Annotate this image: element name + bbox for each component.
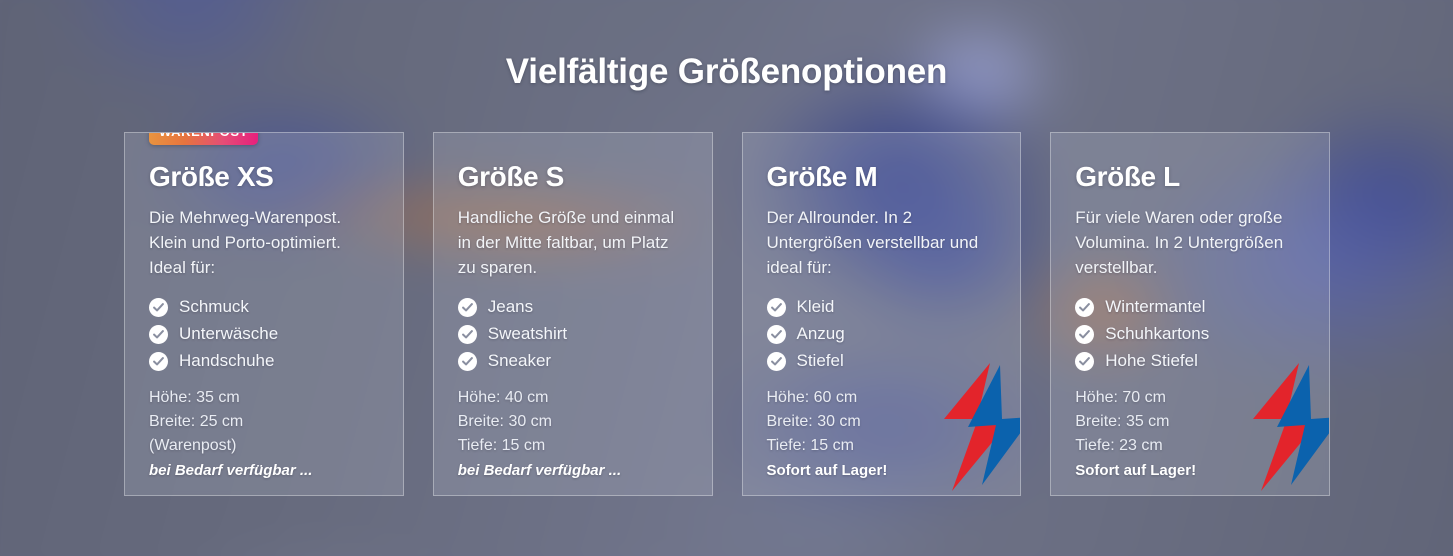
feature-label: Handschuhe (179, 351, 274, 371)
dimension-line: Höhe: 70 cm (1075, 386, 1305, 410)
card-title: Größe XS (149, 161, 379, 193)
dimension-line: Tiefe: 23 cm (1075, 434, 1305, 458)
dimension-line: Höhe: 60 cm (767, 386, 997, 410)
feature-list: JeansSweatshirtSneaker (458, 297, 688, 371)
size-card-list: WARENPOSTGröße XSDie Mehrweg-Warenpost. … (124, 132, 1330, 496)
dimension-line: Breite: 30 cm (458, 410, 688, 434)
feature-item: Sneaker (458, 351, 688, 371)
card-description: Für viele Waren oder große Volumina. In … (1075, 205, 1305, 280)
feature-label: Sneaker (488, 351, 551, 371)
check-circle-icon (149, 352, 168, 371)
dimension-list: Höhe: 40 cmBreite: 30 cmTiefe: 15 cm (458, 386, 688, 458)
feature-label: Anzug (797, 324, 845, 344)
check-circle-icon (1075, 325, 1094, 344)
card-description: Handliche Größe und einmal in der Mitte … (458, 205, 688, 280)
check-circle-icon (149, 325, 168, 344)
card-title: Größe S (458, 161, 688, 193)
dimension-line: Breite: 35 cm (1075, 410, 1305, 434)
size-card[interactable]: WARENPOSTGröße XSDie Mehrweg-Warenpost. … (124, 132, 404, 496)
feature-label: Kleid (797, 297, 835, 317)
feature-list: SchmuckUnterwäscheHandschuhe (149, 297, 379, 371)
card-title: Größe L (1075, 161, 1305, 193)
dimension-list: Höhe: 70 cmBreite: 35 cmTiefe: 23 cm (1075, 386, 1305, 458)
card-description: Der Allrounder. In 2 Untergrößen verstel… (767, 205, 997, 280)
feature-label: Unterwäsche (179, 324, 278, 344)
dimension-list: Höhe: 35 cmBreite: 25 cm(Warenpost) (149, 386, 379, 458)
feature-item: Wintermantel (1075, 297, 1305, 317)
feature-item: Kleid (767, 297, 997, 317)
dimension-line: Breite: 25 cm (149, 410, 379, 434)
feature-label: Wintermantel (1105, 297, 1205, 317)
size-card[interactable]: Größe SHandliche Größe und einmal in der… (433, 132, 713, 496)
dimension-line: Tiefe: 15 cm (767, 434, 997, 458)
feature-item: Schmuck (149, 297, 379, 317)
feature-item: Hohe Stiefel (1075, 351, 1305, 371)
size-options-section: Vielfältige Größenoptionen WARENPOSTGröß… (0, 0, 1453, 556)
feature-label: Hohe Stiefel (1105, 351, 1198, 371)
feature-list: WintermantelSchuhkartonsHohe Stiefel (1075, 297, 1305, 371)
page-title: Vielfältige Größenoptionen (0, 52, 1453, 92)
card-title: Größe M (767, 161, 997, 193)
card-description: Die Mehrweg-Warenpost. Klein und Porto-o… (149, 205, 379, 280)
feature-item: Unterwäsche (149, 324, 379, 344)
dimension-line: Breite: 30 cm (767, 410, 997, 434)
dimension-list: Höhe: 60 cmBreite: 30 cmTiefe: 15 cm (767, 386, 997, 458)
size-card[interactable]: Größe LFür viele Waren oder große Volumi… (1050, 132, 1330, 496)
feature-item: Anzug (767, 324, 997, 344)
check-circle-icon (767, 352, 786, 371)
availability-status: Sofort auf Lager! (767, 462, 997, 479)
check-circle-icon (1075, 298, 1094, 317)
feature-label: Stiefel (797, 351, 844, 371)
feature-item: Schuhkartons (1075, 324, 1305, 344)
dimension-line: Höhe: 35 cm (149, 386, 379, 410)
check-circle-icon (458, 352, 477, 371)
feature-item: Sweatshirt (458, 324, 688, 344)
feature-label: Sweatshirt (488, 324, 567, 344)
availability-status: Sofort auf Lager! (1075, 462, 1305, 479)
check-circle-icon (149, 298, 168, 317)
feature-item: Handschuhe (149, 351, 379, 371)
feature-label: Schuhkartons (1105, 324, 1209, 344)
feature-item: Stiefel (767, 351, 997, 371)
dimension-line: (Warenpost) (149, 434, 379, 458)
feature-label: Jeans (488, 297, 533, 317)
check-circle-icon (1075, 352, 1094, 371)
feature-label: Schmuck (179, 297, 249, 317)
dimension-line: Tiefe: 15 cm (458, 434, 688, 458)
feature-list: KleidAnzugStiefel (767, 297, 997, 371)
check-circle-icon (767, 325, 786, 344)
check-circle-icon (458, 325, 477, 344)
check-circle-icon (767, 298, 786, 317)
availability-status: bei Bedarf verfügbar ... (458, 462, 688, 479)
dimension-line: Höhe: 40 cm (458, 386, 688, 410)
check-circle-icon (458, 298, 477, 317)
availability-status: bei Bedarf verfügbar ... (149, 462, 379, 479)
warenpost-badge: WARENPOST (149, 132, 258, 145)
feature-item: Jeans (458, 297, 688, 317)
size-card[interactable]: Größe MDer Allrounder. In 2 Untergrößen … (742, 132, 1022, 496)
